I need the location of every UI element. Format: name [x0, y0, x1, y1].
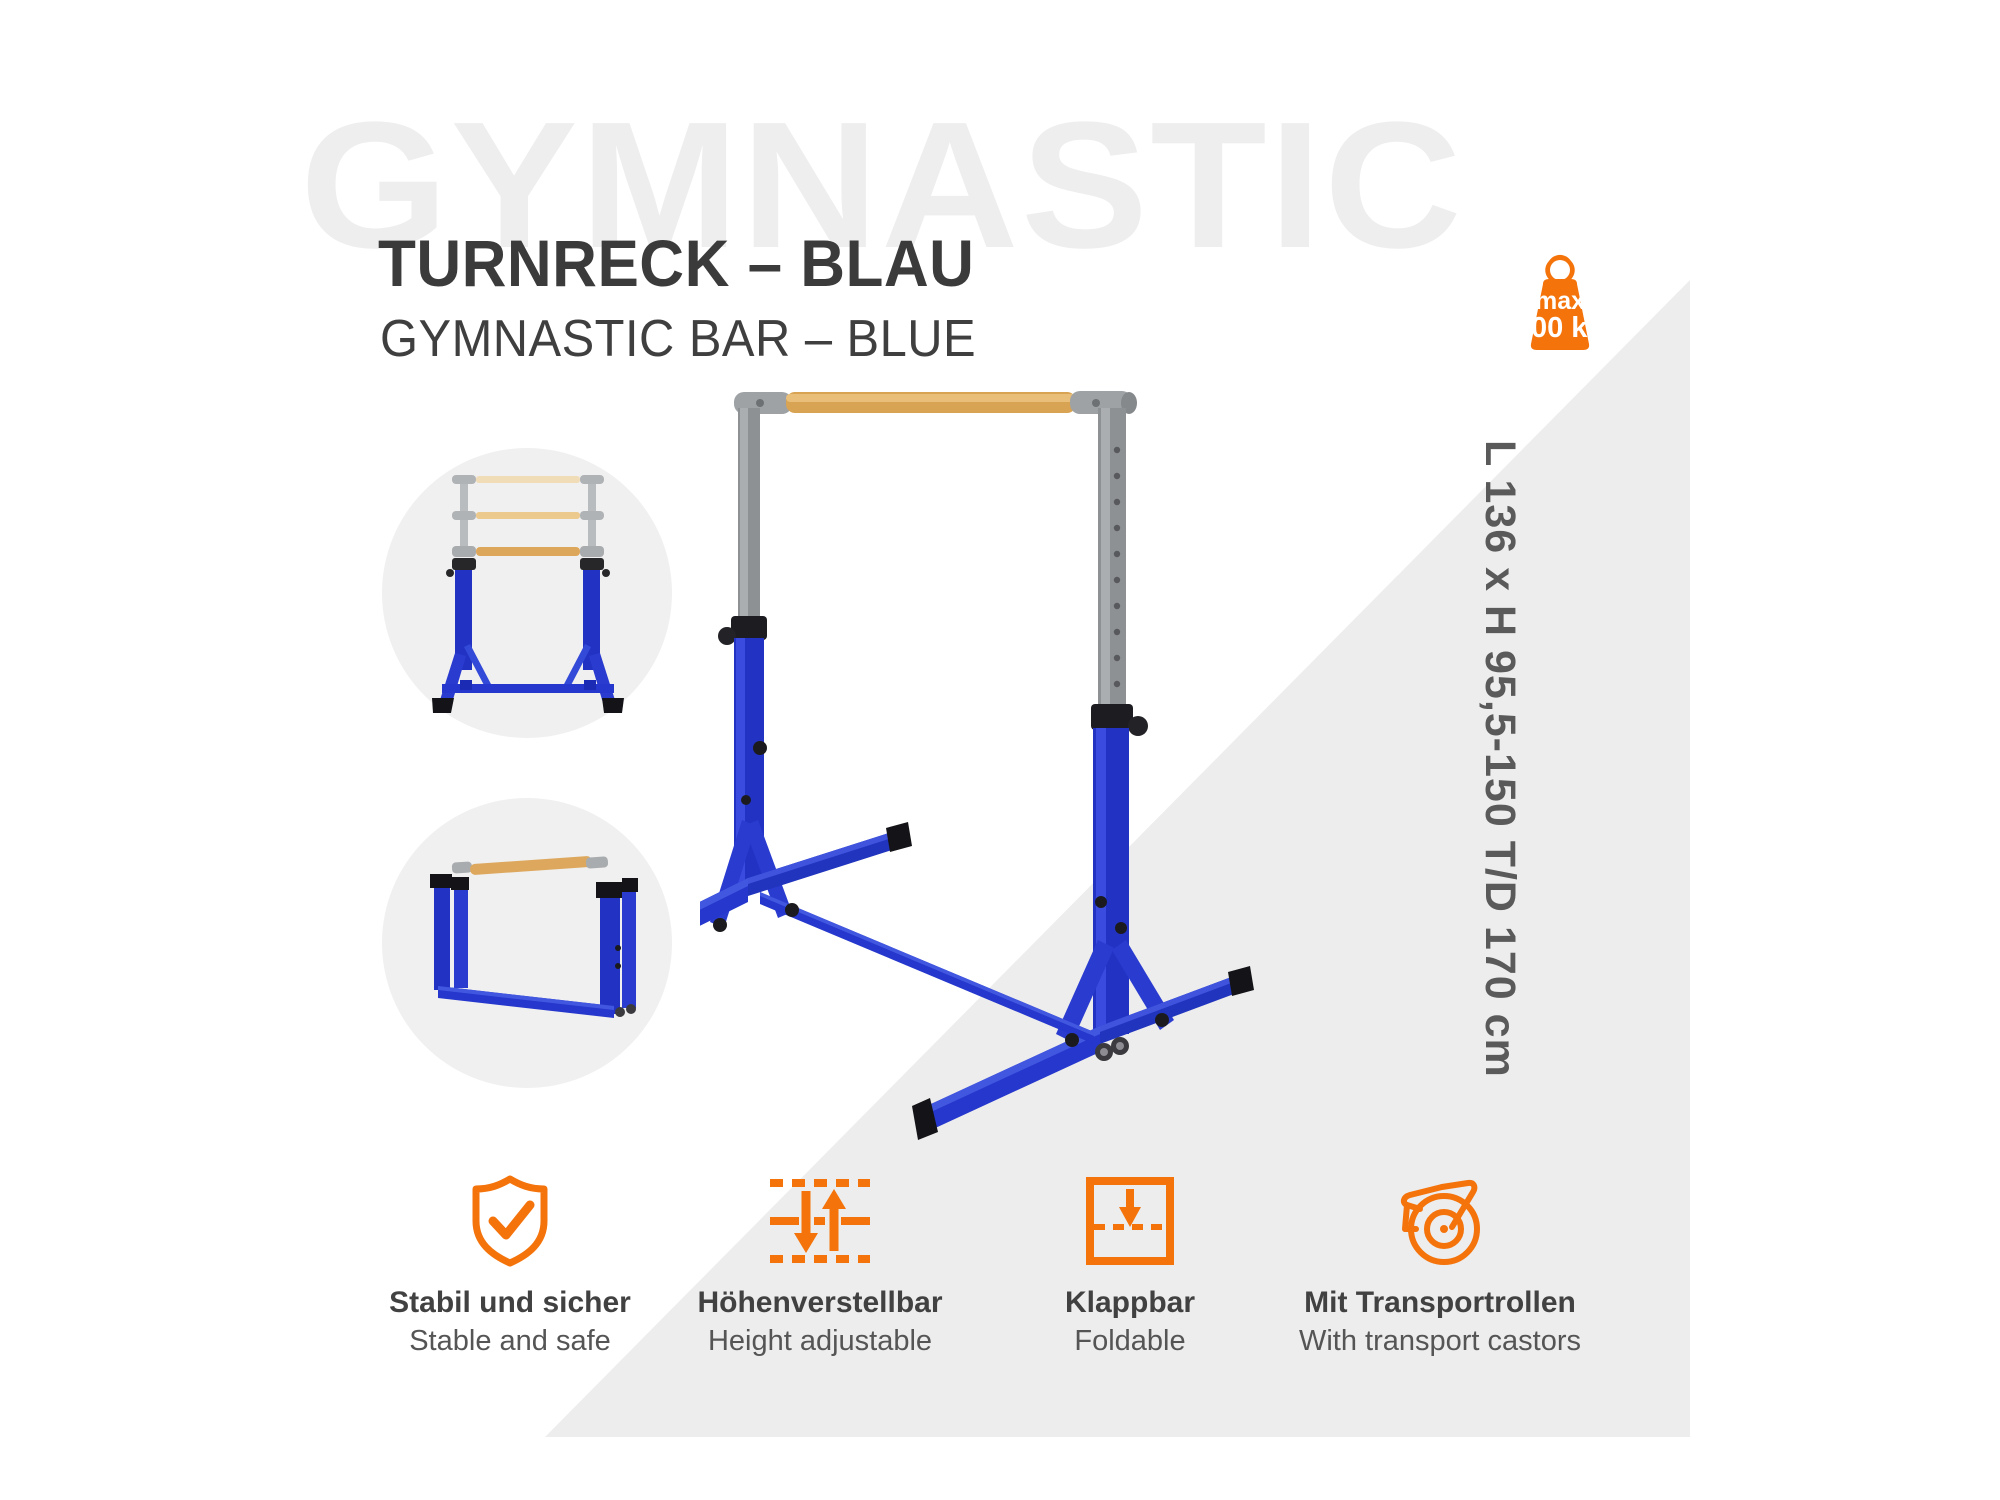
- feature-label-de: Stabil und sicher: [360, 1285, 660, 1321]
- feature-label-en: Height adjustable: [670, 1323, 970, 1359]
- fold-down-square-icon: [980, 1175, 1280, 1267]
- thumbnail-folded[interactable]: [382, 798, 672, 1088]
- weight-badge-line2: 100 kg: [1505, 315, 1615, 342]
- max-weight-badge: max 100 kg: [1505, 248, 1615, 358]
- shield-check-icon: [360, 1175, 660, 1267]
- weight-badge-text: max 100 kg: [1505, 288, 1615, 342]
- page-title: TURNRECK – BLAU: [378, 230, 974, 296]
- feature-label-de: Mit Transportrollen: [1290, 1285, 1590, 1321]
- caster-wheel-icon: [1290, 1175, 1590, 1267]
- feature-label-en: Foldable: [980, 1323, 1280, 1359]
- feature-height-adjustable: Höhenverstellbar Height adjustable: [670, 1175, 970, 1359]
- feature-list: Stabil und sicher Stable and safe Höhenv…: [360, 1175, 1590, 1415]
- feature-label-de: Klappbar: [980, 1285, 1280, 1321]
- feature-foldable: Klappbar Foldable: [980, 1175, 1280, 1359]
- main-product-image: [700, 380, 1640, 1140]
- feature-label-en: With transport castors: [1290, 1323, 1590, 1359]
- feature-label-de: Höhenverstellbar: [670, 1285, 970, 1321]
- feature-label-en: Stable and safe: [360, 1323, 660, 1359]
- feature-transport-castors: Mit Transportrollen With transport casto…: [1290, 1175, 1590, 1359]
- page-subtitle: GYMNASTIC BAR – BLUE: [380, 313, 976, 365]
- feature-stable-and-safe: Stabil und sicher Stable and safe: [360, 1175, 660, 1359]
- height-adjust-arrows-icon: [670, 1175, 970, 1267]
- product-infographic-panel: GYMNASTIC TURNRECK – BLAU GYMNASTIC BAR …: [0, 0, 1690, 1437]
- weight-badge-line1: max: [1505, 288, 1615, 315]
- thumbnail-height-positions[interactable]: [382, 448, 672, 738]
